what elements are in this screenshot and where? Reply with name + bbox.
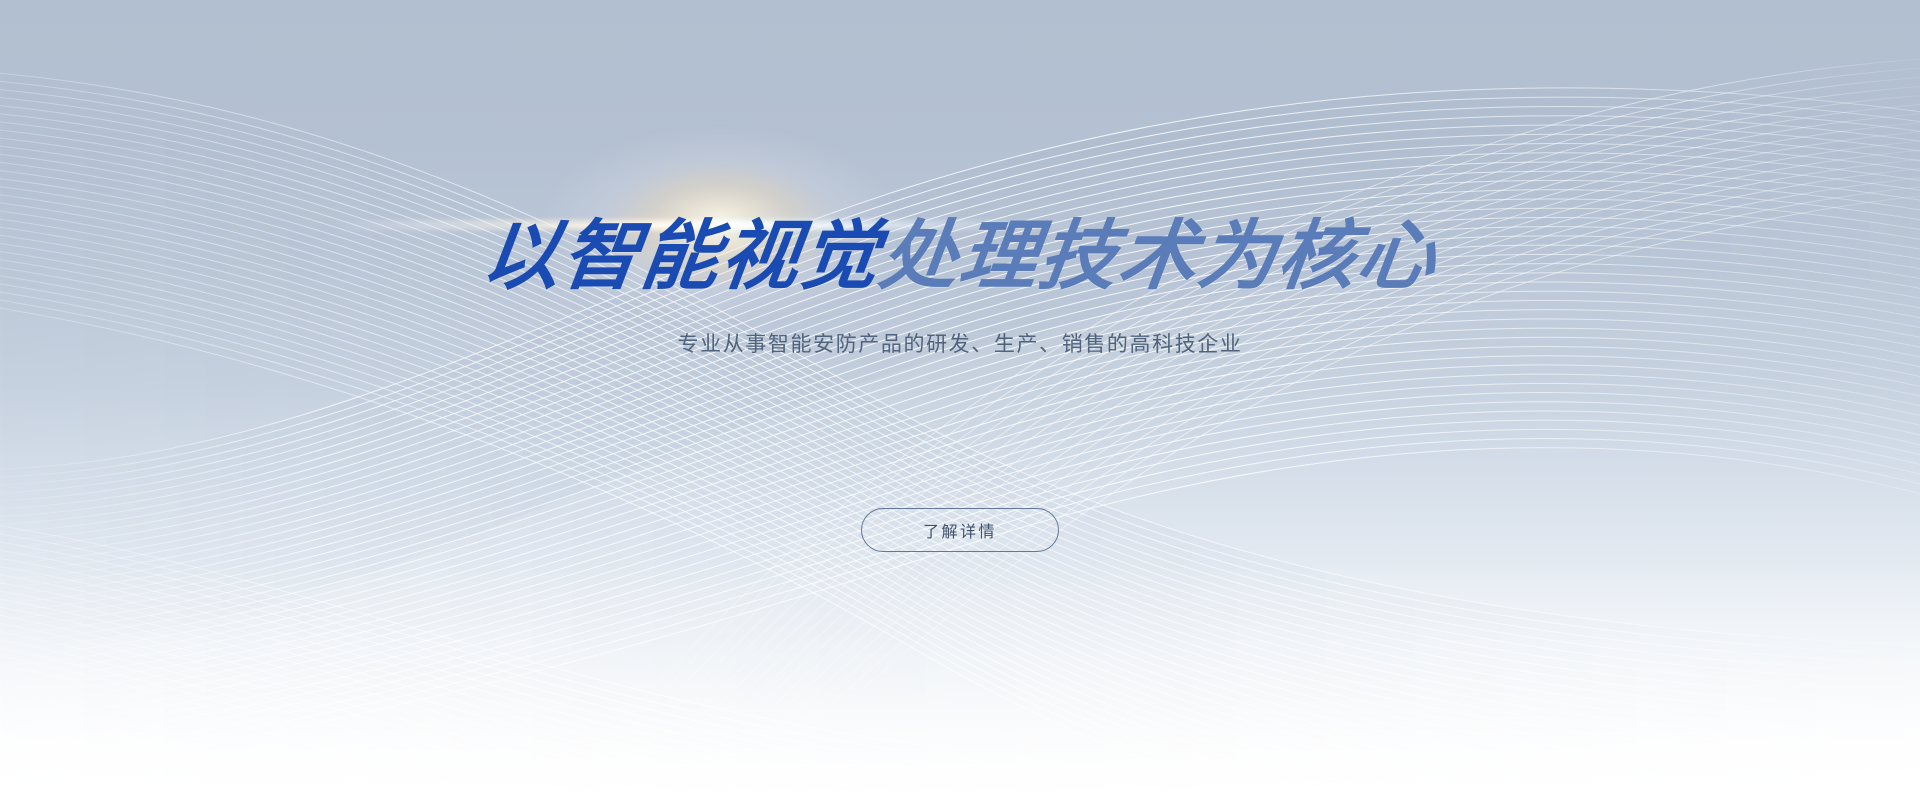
page-title: 以智能视觉处理技术为核心 xyxy=(0,216,1920,296)
learn-more-button[interactable]: 了解详情 xyxy=(861,508,1059,552)
cta-container: 了解详情 xyxy=(0,508,1920,552)
hero-content: 以智能视觉处理技术为核心 专业从事智能安防产品的研发、生产、销售的高科技企业 了… xyxy=(0,0,1920,800)
hero-subtitle: 专业从事智能安防产品的研发、生产、销售的高科技企业 xyxy=(0,329,1920,361)
headline-segment-primary: 以智能视觉 xyxy=(478,216,886,296)
headline-segment-secondary: 处理技术为核心 xyxy=(875,216,1442,296)
hero-banner: 以智能视觉处理技术为核心 专业从事智能安防产品的研发、生产、销售的高科技企业 了… xyxy=(0,0,1920,800)
